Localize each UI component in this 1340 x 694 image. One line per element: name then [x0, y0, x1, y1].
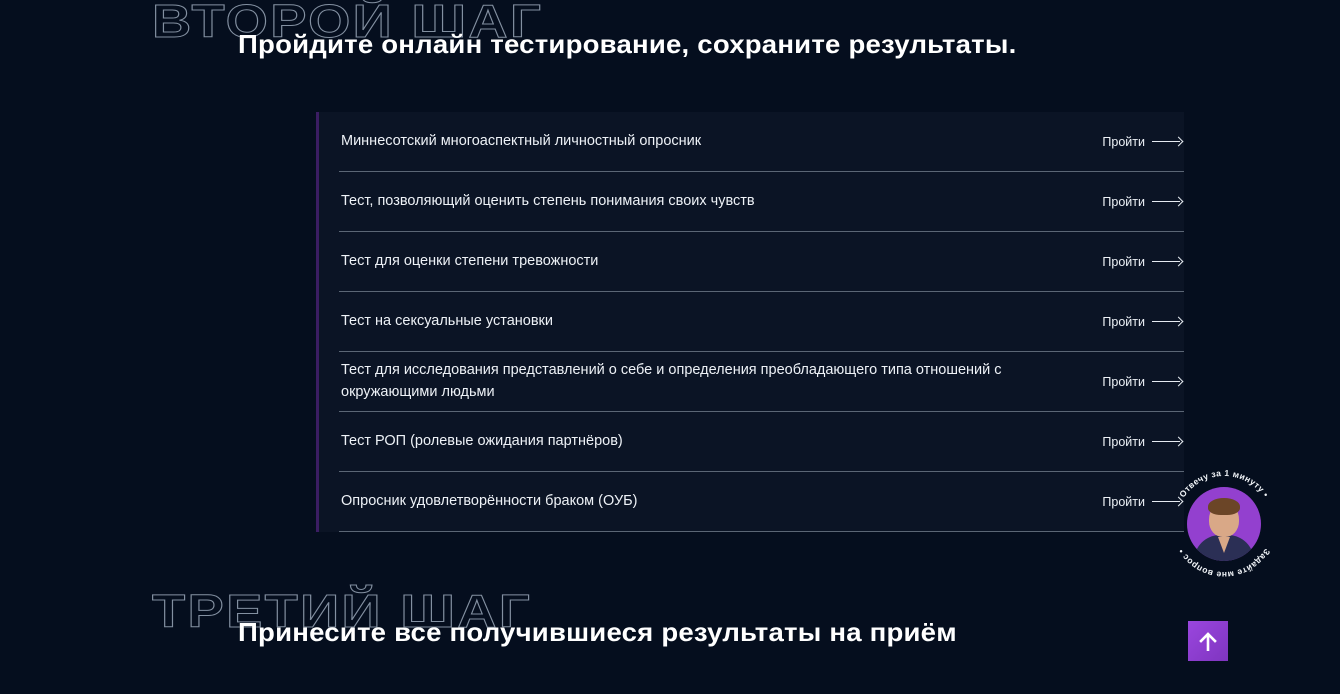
take-test-link[interactable]: Пройти [1102, 135, 1182, 149]
take-test-label: Пройти [1102, 135, 1145, 149]
take-test-link[interactable]: Пройти [1102, 375, 1182, 389]
test-title: Тест РОП (ролевые ожидания партнёров) [341, 431, 643, 452]
test-title: Тест для оценки степени тревожности [341, 251, 618, 272]
test-title: Тест на сексуальные установки [341, 311, 573, 332]
avatar-hair [1208, 498, 1240, 515]
avatar [1187, 487, 1261, 561]
ask-question-badge[interactable]: Отвечу за 1 минуту • Задайте мне вопрос … [1168, 468, 1280, 580]
arrow-right-icon [1152, 257, 1182, 266]
arrow-right-icon [1152, 437, 1182, 446]
test-row[interactable]: Тест, позволяющий оценить степень понима… [339, 172, 1184, 232]
arrow-right-icon [1152, 197, 1182, 206]
test-row[interactable]: Тест для оценки степени тревожности Прой… [339, 232, 1184, 292]
test-row[interactable]: Опросник удовлетворённости браком (ОУБ) … [339, 472, 1184, 532]
test-row[interactable]: Тест РОП (ролевые ожидания партнёров) Пр… [339, 412, 1184, 472]
scroll-to-top-button[interactable] [1188, 621, 1228, 661]
step-heading-second: Пройдите онлайн тестирование, сохраните … [238, 30, 1016, 59]
take-test-label: Пройти [1102, 375, 1145, 389]
take-test-label: Пройти [1102, 435, 1145, 449]
take-test-link[interactable]: Пройти [1102, 195, 1182, 209]
step-heading-third: Принесите все получившиеся результаты на… [238, 618, 957, 647]
arrow-right-icon [1152, 377, 1182, 386]
arrow-right-icon [1152, 317, 1182, 326]
test-title: Опросник удовлетворённости браком (ОУБ) [341, 491, 658, 512]
test-title: Тест, позволяющий оценить степень понима… [341, 191, 775, 212]
take-test-label: Пройти [1102, 195, 1145, 209]
take-test-label: Пройти [1102, 255, 1145, 269]
take-test-label: Пройти [1102, 315, 1145, 329]
test-title: Миннесотский многоаспектный личностный о… [341, 131, 721, 152]
test-row[interactable]: Миннесотский многоаспектный личностный о… [339, 112, 1184, 172]
take-test-link[interactable]: Пройти [1102, 315, 1182, 329]
page-root: ВТОРОЙ ШАГ Пройдите онлайн тестирование,… [0, 0, 1340, 694]
take-test-link[interactable]: Пройти [1102, 255, 1182, 269]
tests-list-panel: Миннесотский многоаспектный личностный о… [316, 112, 1184, 532]
test-row[interactable]: Тест на сексуальные установки Пройти [339, 292, 1184, 352]
take-test-label: Пройти [1102, 495, 1145, 509]
arrow-right-icon [1152, 137, 1182, 146]
test-row[interactable]: Тест для исследования представлений о се… [339, 352, 1184, 412]
take-test-link[interactable]: Пройти [1102, 435, 1182, 449]
test-title: Тест для исследования представлений о се… [341, 360, 1041, 402]
arrow-up-icon [1199, 631, 1217, 651]
